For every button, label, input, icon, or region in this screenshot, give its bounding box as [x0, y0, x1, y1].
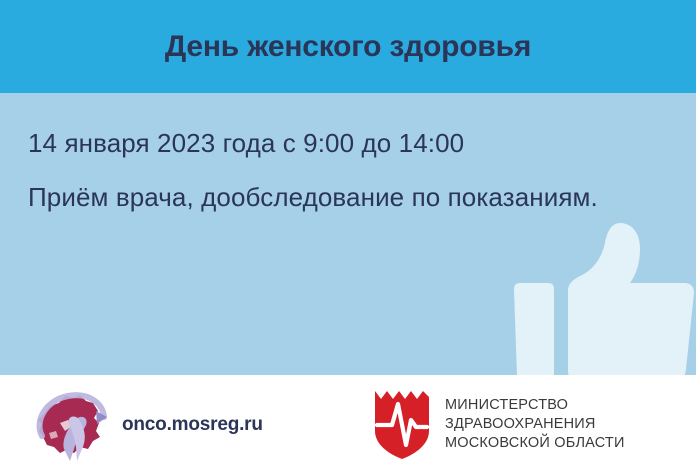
onco-site-label: onco.mosreg.ru [122, 414, 263, 436]
ministry-logo-block[interactable]: МИНИСТЕРСТВО ЗДРАВООХРАНЕНИЯ МОСКОВСКОЙ … [372, 387, 625, 461]
onco-logo-block[interactable]: onco.mosreg.ru [30, 387, 263, 463]
thumbs-up-icon [508, 221, 696, 375]
header-band: День женского здоровья [0, 0, 696, 93]
ministry-name-line-2: ЗДРАВООХРАНЕНИЯ [445, 415, 625, 434]
ministry-name-line-1: МИНИСТЕРСТВО [445, 396, 625, 415]
body-band: 14 января 2023 года с 9:00 до 14:00 Приё… [0, 93, 696, 375]
onco-map-ribbon-logo [30, 387, 112, 463]
event-datetime: 14 января 2023 года с 9:00 до 14:00 [28, 126, 628, 160]
shield-ecg-icon [372, 387, 432, 461]
footer-band: onco.mosreg.ru МИНИСТЕРСТВО ЗДРАВООХРАНЕ… [0, 375, 696, 476]
ministry-name: МИНИСТЕРСТВО ЗДРАВООХРАНЕНИЯ МОСКОВСКОЙ … [445, 396, 625, 453]
event-description: Приём врача, дообследование по показания… [28, 180, 628, 214]
page-title: День женского здоровья [0, 0, 696, 93]
body-text-block: 14 января 2023 года с 9:00 до 14:00 Приё… [28, 126, 628, 214]
ministry-name-line-3: МОСКОВСКОЙ ОБЛАСТИ [445, 434, 625, 453]
announcement-poster: День женского здоровья 14 января 2023 го… [0, 0, 696, 476]
